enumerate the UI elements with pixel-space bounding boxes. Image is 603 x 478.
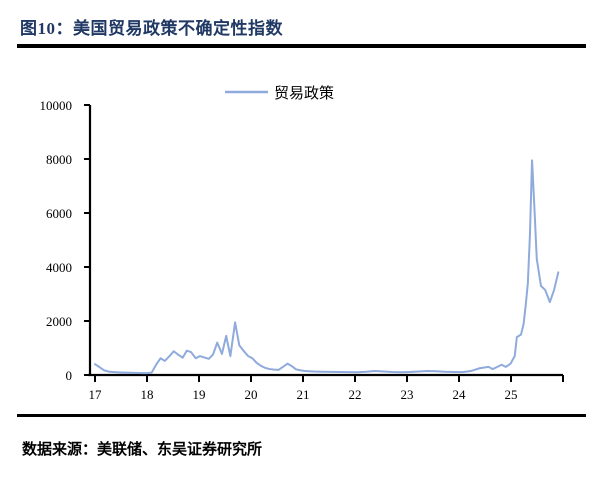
x-tick-label: 24 (453, 387, 467, 402)
figure-header: 图10：美国贸易政策不确定性指数 (0, 0, 603, 52)
y-tick-label: 4000 (46, 260, 72, 275)
x-tick-label: 18 (141, 387, 154, 402)
x-tick-label: 20 (245, 387, 258, 402)
footer-divider (17, 414, 586, 417)
x-tick-label: 23 (401, 387, 414, 402)
x-axis-labels: 17 18 19 20 21 22 23 24 25 (89, 387, 518, 402)
y-tick-label: 2000 (46, 314, 72, 329)
x-tick-label: 25 (505, 387, 518, 402)
x-tick-label: 19 (193, 387, 206, 402)
x-tick-label: 22 (349, 387, 362, 402)
y-tick-label: 6000 (46, 206, 72, 221)
source-note: 数据来源：美联储、东吴证券研究所 (22, 438, 262, 459)
chart-plot-area: 贸易政策 10000 8000 6000 4000 2000 0 (0, 52, 603, 412)
line-chart: 贸易政策 10000 8000 6000 4000 2000 0 (0, 52, 603, 412)
y-tick-label: 0 (66, 368, 73, 383)
data-series-trade-policy (95, 160, 558, 373)
x-tick-label: 21 (297, 387, 310, 402)
figure-container: 图10：美国贸易政策不确定性指数 贸易政策 10000 8000 6000 40… (0, 0, 603, 478)
y-axis-labels: 10000 8000 6000 4000 2000 0 (40, 98, 73, 383)
chart-legend: 贸易政策 (225, 85, 334, 102)
x-tick-label: 17 (89, 387, 103, 402)
page-title: 图10：美国贸易政策不确定性指数 (20, 14, 283, 39)
legend-label-trade-policy: 贸易政策 (274, 85, 334, 102)
y-tick-label: 10000 (40, 98, 73, 113)
y-tick-label: 8000 (46, 152, 72, 167)
header-divider (17, 44, 586, 48)
